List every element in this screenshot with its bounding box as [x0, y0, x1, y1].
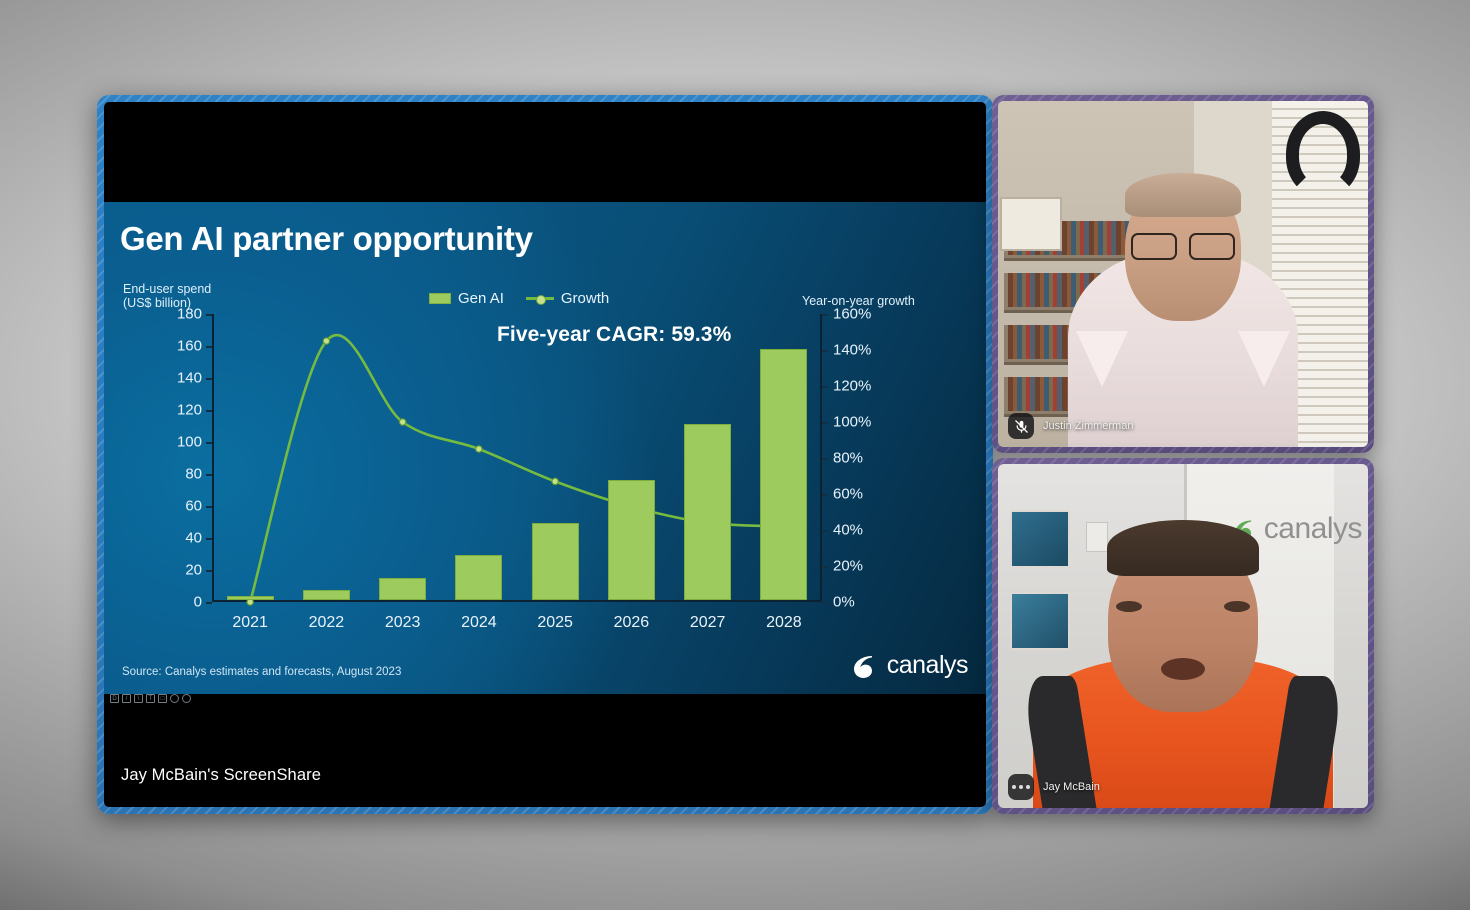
- y-axis-tick-right: [822, 386, 828, 388]
- y-axis-tick-label-left: 60: [185, 498, 202, 515]
- person-hair: [1107, 520, 1259, 576]
- slide-title: Gen AI partner opportunity: [120, 220, 533, 258]
- presentation-slide: Gen AI partner opportunity End-user spen…: [104, 202, 986, 694]
- growth-marker-2023: [399, 419, 405, 425]
- person-eye-right: [1224, 601, 1250, 612]
- wall-poster-1: [1010, 510, 1070, 568]
- y-axis-tick-label-left: 80: [185, 466, 202, 483]
- microphone-muted-icon: [1008, 413, 1034, 439]
- shape-icon[interactable]: □: [158, 694, 167, 703]
- light-switch-decor: [1086, 522, 1108, 552]
- eraser-icon[interactable]: [170, 694, 179, 703]
- x-axis-tick-label-2027: 2027: [690, 614, 726, 632]
- participant-name-justin: Justin Zimmerman: [1043, 420, 1133, 432]
- x-axis-tick-label-2023: 2023: [385, 614, 421, 632]
- eyeglasses: [1131, 233, 1235, 257]
- y-axis-tick-label-left: 100: [177, 434, 202, 451]
- y-axis-tick-right: [822, 458, 828, 460]
- person-hair: [1125, 173, 1241, 217]
- shirt-collar-left: [1076, 331, 1128, 387]
- bar-2021: [227, 596, 274, 600]
- legend-label-gen-ai: Gen AI: [458, 290, 504, 307]
- participant-tile-justin-zimmerman[interactable]: Justin Zimmerman: [992, 95, 1374, 453]
- x-axis-tick-label-2021: 2021: [232, 614, 268, 632]
- y-axis-tick-left: [206, 314, 212, 316]
- y-axis-tick-left: [206, 442, 212, 444]
- clear-icon[interactable]: [182, 694, 191, 703]
- nameplate-jay: Jay McBain: [1008, 774, 1100, 800]
- x-axis-tick-label-2025: 2025: [537, 614, 573, 632]
- canalys-swirl-icon: [852, 653, 880, 679]
- wall-poster-2: [1010, 592, 1070, 650]
- y-axis-tick-right: [822, 530, 828, 532]
- y-axis-tick-right: [822, 350, 828, 352]
- y-axis-tick-label-right: 140%: [833, 342, 871, 359]
- participant-video-jay[interactable]: canalys Jay McBain: [998, 464, 1368, 808]
- y-axis-tick-label-right: 160%: [833, 306, 871, 323]
- y-axis-tick-right: [822, 602, 828, 604]
- headphones-decor: [1286, 111, 1360, 197]
- x-axis-tick-label-2024: 2024: [461, 614, 497, 632]
- legend-label-growth: Growth: [561, 290, 609, 307]
- shirt-collar-right: [1238, 331, 1290, 387]
- growth-marker-2022: [323, 338, 329, 344]
- bar-2025: [532, 523, 579, 600]
- highlighter-icon[interactable]: \: [134, 694, 143, 703]
- y-axis-tick-label-left: 120: [177, 402, 202, 419]
- legend-item-growth: Growth: [526, 290, 609, 307]
- x-axis-tick-label-2028: 2028: [766, 614, 802, 632]
- y-axis-tick-label-right: 40%: [833, 522, 863, 539]
- growth-marker-2025: [552, 478, 558, 484]
- growth-marker-2024: [476, 446, 482, 452]
- y-axis-tick-left: [206, 570, 212, 572]
- pointer-icon[interactable]: D: [110, 694, 119, 703]
- legend-swatch-bar-icon: [429, 293, 451, 304]
- bar-2024: [455, 555, 502, 600]
- y-axis-tick-label-right: 80%: [833, 450, 863, 467]
- y-axis-tick-left: [206, 410, 212, 412]
- y-axis-tick-label-left: 0: [194, 594, 202, 611]
- y-axis-tick-left: [206, 474, 212, 476]
- y-axis-tick-label-left: 20: [185, 562, 202, 579]
- bar-2027: [684, 424, 731, 600]
- y-axis-tick-right: [822, 566, 828, 568]
- x-axis-tick-label-2026: 2026: [614, 614, 650, 632]
- y-axis-tick-right: [822, 314, 828, 316]
- y-axis-tick-label-left: 180: [177, 306, 202, 323]
- person-mouth: [1161, 658, 1205, 680]
- y-axis-tick-label-right: 60%: [833, 486, 863, 503]
- pinboard-decor: [1000, 197, 1062, 251]
- annotation-toolbar[interactable]: D / \ T □: [110, 694, 191, 703]
- participant-video-justin[interactable]: Justin Zimmerman: [998, 101, 1368, 447]
- y-axis-tick-label-right: 100%: [833, 414, 871, 431]
- pen-icon[interactable]: /: [122, 694, 131, 703]
- speaking-dots-icon: [1008, 774, 1034, 800]
- canalys-logo: canalys: [852, 651, 968, 680]
- canalys-backdrop-text: canalys: [1264, 512, 1362, 546]
- bar-2028: [760, 349, 807, 600]
- x-axis-tick-label-2022: 2022: [309, 614, 345, 632]
- canalys-logo-text: canalys: [887, 651, 968, 680]
- bar-2022: [303, 590, 350, 600]
- y-axis-tick-label-left: 140: [177, 370, 202, 387]
- y-axis-tick-right: [822, 494, 828, 496]
- legend-item-gen-ai: Gen AI: [429, 290, 504, 307]
- chart-plot-area: 0204060801001201401601800%20%40%60%80%10…: [212, 314, 822, 602]
- y-axis-tick-left: [206, 538, 212, 540]
- y-axis-tick-label-right: 0%: [833, 594, 855, 611]
- y-axis-tick-left: [206, 378, 212, 380]
- chart-legend: Gen AI Growth: [429, 290, 609, 307]
- screenshare-video[interactable]: Gen AI partner opportunity End-user spen…: [104, 102, 986, 807]
- y-axis-tick-left: [206, 506, 212, 508]
- text-icon[interactable]: T: [146, 694, 155, 703]
- y-axis-tick-label-right: 120%: [833, 378, 871, 395]
- y-axis-tick-left: [206, 346, 212, 348]
- y-axis-tick-label-left: 40: [185, 530, 202, 547]
- bar-2026: [608, 480, 655, 600]
- nameplate-justin: Justin Zimmerman: [1008, 413, 1133, 439]
- source-note: Source: Canalys estimates and forecasts,…: [122, 666, 401, 678]
- y-axis-tick-left: [206, 602, 212, 604]
- participant-tile-jay-mcbain[interactable]: canalys Jay McBain: [992, 458, 1374, 814]
- bar-2023: [379, 578, 426, 600]
- screenshare-panel[interactable]: Gen AI partner opportunity End-user spen…: [97, 95, 993, 814]
- y-axis-tick-label-left: 160: [177, 338, 202, 355]
- y-axis-tick-label-right: 20%: [833, 558, 863, 575]
- screenshare-label: Jay McBain's ScreenShare: [121, 766, 321, 785]
- person-eye-left: [1116, 601, 1142, 612]
- legend-line-marker-icon: [526, 297, 554, 300]
- y-axis-tick-right: [822, 422, 828, 424]
- participant-name-jay: Jay McBain: [1043, 781, 1100, 793]
